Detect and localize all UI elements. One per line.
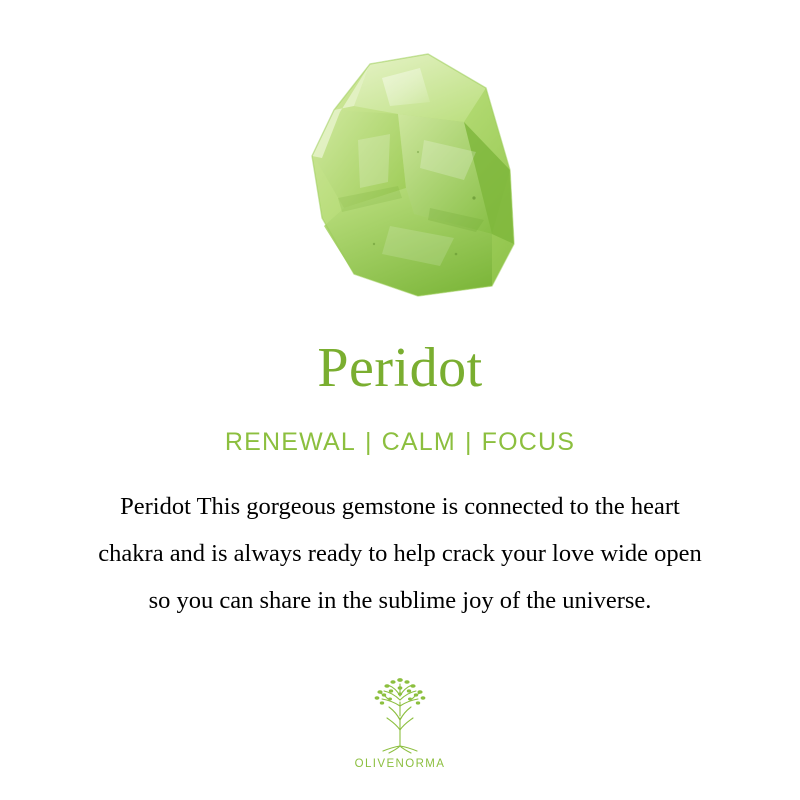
description-text: Peridot This gorgeous gemstone is connec… [20,483,780,624]
keyword-separator-1: | [356,428,382,456]
keyword-separator-2: | [456,428,482,456]
description-line-3: so you can share in the sublime joy of t… [20,577,780,624]
description-line-1: Peridot This gorgeous gemstone is connec… [20,483,780,530]
peridot-gemstone-icon [278,48,528,300]
brand-name: OLIVENORMA [355,758,446,770]
keyword-renewal: RENEWAL [225,428,356,456]
brand-logo: OLIVENORMA [0,672,800,770]
keyword-focus: FOCUS [482,428,576,456]
description-line-2: chakra and is always ready to help crack… [20,530,780,577]
page-title: Peridot [317,340,482,396]
keywords-line: RENEWAL|CALM|FOCUS [225,428,575,457]
keyword-calm: CALM [382,428,456,456]
gemstone-image-area [0,0,800,318]
tree-of-life-icon [357,672,443,756]
gemstone-info-card: Peridot RENEWAL|CALM|FOCUS Peridot This … [0,0,800,800]
